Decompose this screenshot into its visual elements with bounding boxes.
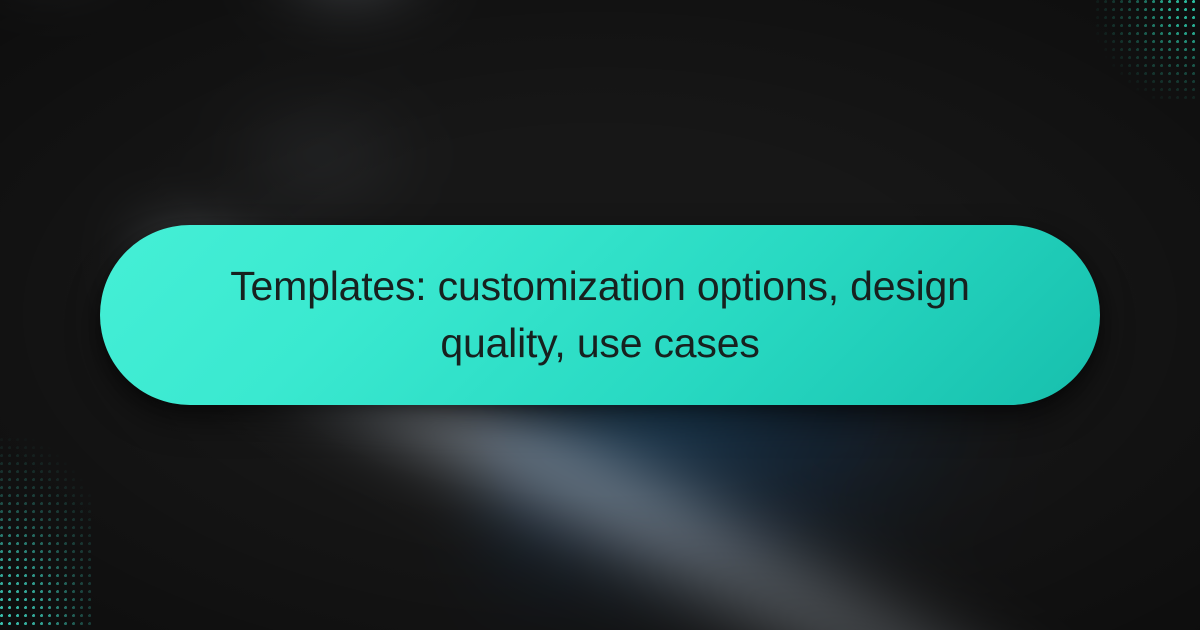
social-share-card: Templates: customization options, design… bbox=[0, 0, 1200, 630]
title-pill-container: Templates: customization options, design… bbox=[100, 225, 1100, 405]
title-pill: Templates: customization options, design… bbox=[100, 225, 1100, 405]
page-title: Templates: customization options, design… bbox=[186, 258, 1014, 371]
